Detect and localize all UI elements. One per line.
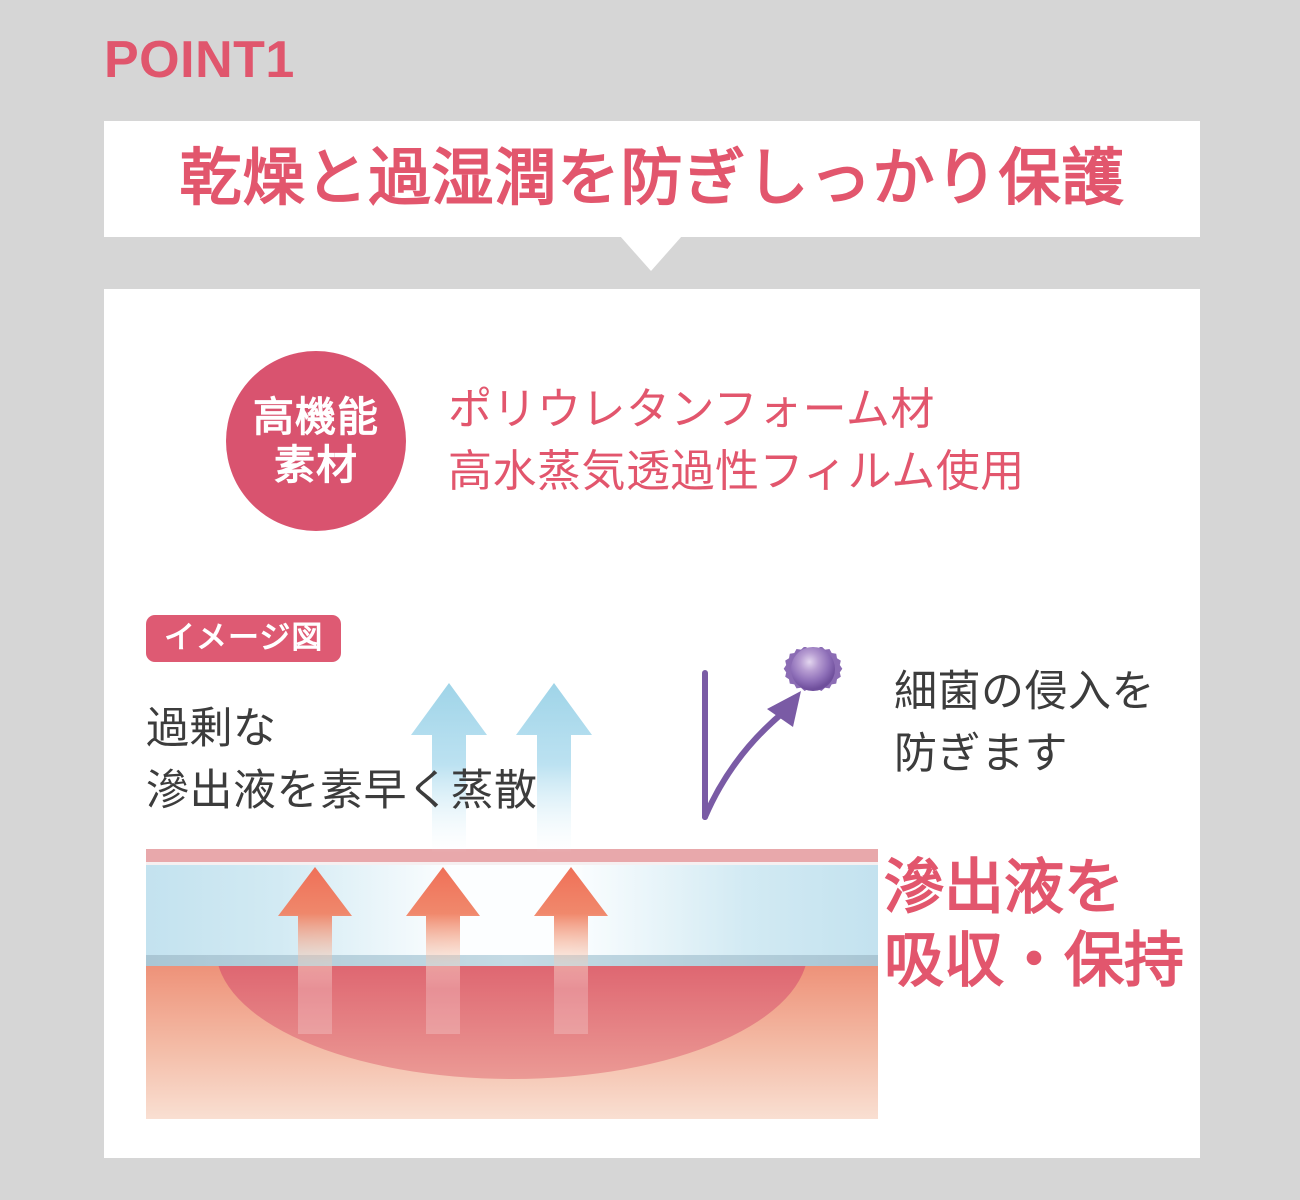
evaporation-caption-line1: 過剰な xyxy=(146,698,538,760)
image-diagram-tag: イメージ図 xyxy=(146,615,341,662)
bacteria-caption-line1: 細菌の侵入を xyxy=(894,661,1155,723)
evaporation-caption-line2: 滲出液を素早く蒸散 xyxy=(146,760,538,822)
content-card: 高機能 素材 ポリウレタンフォーム材 高水蒸気透過性フィルム使用 イメージ図 過… xyxy=(104,289,1200,1158)
absorb-caption-line2: 吸収・保持 xyxy=(884,924,1184,997)
material-description: ポリウレタンフォーム材 高水蒸気透過性フィルム使用 xyxy=(448,379,1025,504)
wound-cross-section-diagram xyxy=(146,849,878,1119)
material-row: 高機能 素材 ポリウレタンフォーム材 高水蒸気透過性フィルム使用 xyxy=(226,351,1025,531)
title-banner: 乾燥と過湿潤を防ぎしっかり保護 xyxy=(104,121,1200,237)
material-badge-line1: 高機能 xyxy=(253,393,379,441)
title-notch-triangle xyxy=(620,236,682,271)
absorb-caption: 滲出液を 吸収・保持 xyxy=(884,851,1184,997)
bacteria-bounce-group xyxy=(689,647,849,837)
bacteria-caption: 細菌の侵入を 防ぎます xyxy=(894,661,1155,786)
material-desc-line1: ポリウレタンフォーム材 xyxy=(448,379,1025,441)
evaporation-caption: 過剰な 滲出液を素早く蒸散 xyxy=(146,698,538,823)
material-badge: 高機能 素材 xyxy=(226,351,406,531)
bacteria-icon xyxy=(784,647,843,691)
material-desc-line2: 高水蒸気透過性フィルム使用 xyxy=(448,441,1025,503)
page-title: 乾燥と過湿潤を防ぎしっかり保護 xyxy=(179,148,1124,210)
point-label: POINT1 xyxy=(104,34,295,86)
bacteria-caption-line2: 防ぎます xyxy=(894,723,1155,785)
material-badge-line2: 素材 xyxy=(274,441,358,489)
absorb-caption-line1: 滲出液を xyxy=(884,851,1184,924)
